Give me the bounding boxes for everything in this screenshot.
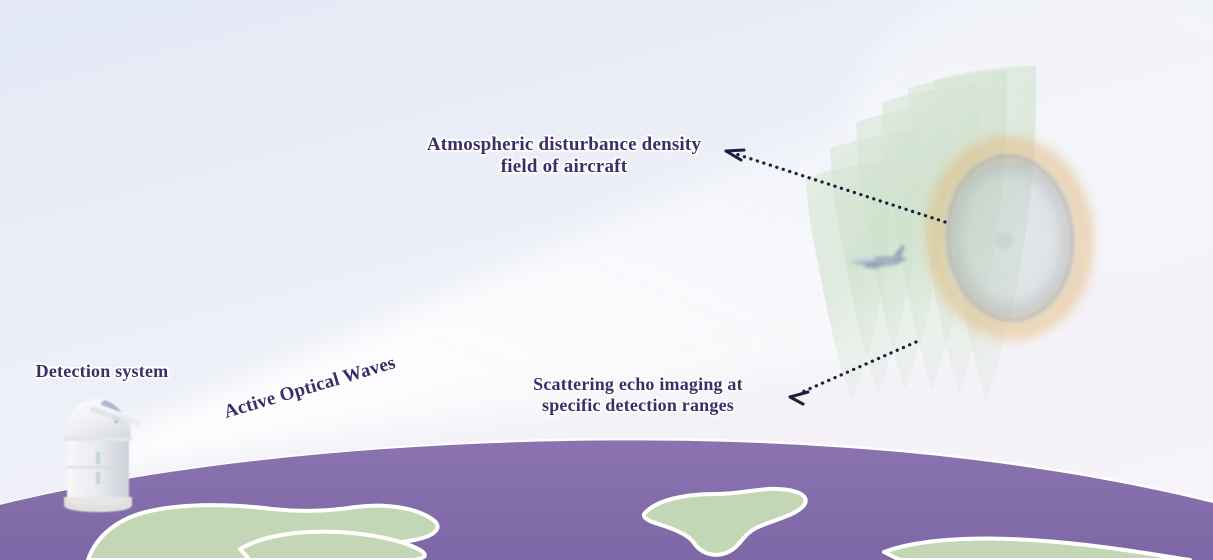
label-scattering-echo-imaging: Scattering echo imaging at specific dete… (513, 374, 763, 416)
diagram-canvas: Atmospheric disturbance density field of… (0, 0, 1213, 560)
label-detection-system: Detection system (22, 361, 182, 382)
arrow-to-scattering-echo-icon (790, 342, 916, 404)
label-atmospheric-disturbance-density-field: Atmospheric disturbance density field of… (424, 134, 704, 179)
arrow-to-disturbance-field-icon (726, 150, 945, 222)
annotation-arrows (0, 0, 1213, 560)
